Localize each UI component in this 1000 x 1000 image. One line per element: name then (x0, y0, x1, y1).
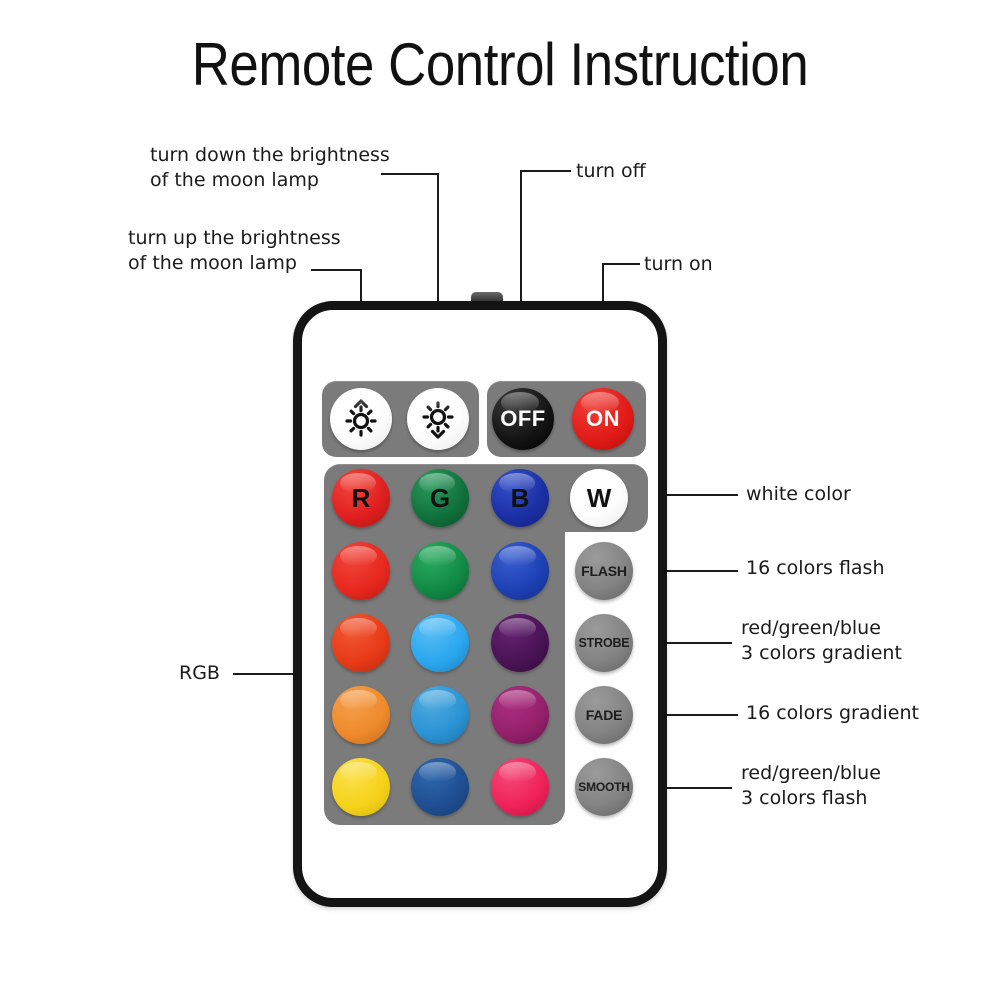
mode-button-flash[interactable]: FLASH (575, 542, 633, 600)
swatch-dark-purple[interactable] (491, 614, 549, 672)
color-button-r[interactable]: R (332, 469, 390, 527)
annotation-strobe: red/green/blue 3 colors gradient (741, 616, 902, 666)
color-button-g-label: G (430, 483, 450, 514)
mode-button-strobe[interactable]: STROBE (575, 614, 633, 672)
annotation-brightness-up: turn up the brightness of the moon lamp (128, 226, 428, 276)
annotation-flash: 16 colors flash (746, 556, 885, 581)
annotation-rgb: RGB (179, 661, 220, 686)
swatch-navy-blue[interactable] (411, 758, 469, 816)
mode-button-flash-label: FLASH (581, 563, 627, 579)
page-title: Remote Control Instruction (60, 34, 940, 96)
power-on-button[interactable]: ON (572, 388, 634, 450)
mode-button-strobe-label: STROBE (579, 636, 630, 650)
swatch-red[interactable] (332, 542, 390, 600)
leader-line-brightness-up-h (311, 269, 362, 271)
leader-line-turn-on-h (602, 263, 640, 265)
annotation-turn-on: turn on (644, 252, 713, 277)
swatch-blue[interactable] (491, 542, 549, 600)
annotation-brightness-down: turn down the brightness of the moon lam… (150, 143, 450, 193)
swatch-orange[interactable] (332, 686, 390, 744)
leader-line-turn-off-h (520, 170, 571, 172)
color-button-b[interactable]: B (491, 469, 549, 527)
color-button-w[interactable]: W (570, 469, 628, 527)
mode-button-fade[interactable]: FADE (575, 686, 633, 744)
color-button-w-label: W (587, 483, 612, 514)
swatch-pink[interactable] (491, 758, 549, 816)
mode-button-fade-label: FADE (586, 707, 623, 723)
mode-button-smooth-label: SMOOTH (578, 780, 629, 794)
power-on-label: ON (586, 406, 620, 432)
swatch-yellow[interactable] (332, 758, 390, 816)
annotation-fade: 16 colors gradient (746, 701, 919, 726)
color-button-r-label: R (352, 483, 371, 514)
leader-line-brightness-down-h (381, 173, 439, 175)
annotation-smooth: red/green/blue 3 colors flash (741, 761, 881, 811)
power-off-button[interactable]: OFF (492, 388, 554, 450)
mode-button-smooth[interactable]: SMOOTH (575, 758, 633, 816)
instruction-diagram: Remote Control Instruction turn down the… (0, 0, 1000, 1000)
brightness-up-button[interactable] (330, 388, 392, 450)
sun-up-icon (338, 396, 384, 442)
swatch-magenta[interactable] (491, 686, 549, 744)
annotation-turn-off: turn off (576, 159, 646, 184)
swatch-orange-red[interactable] (332, 614, 390, 672)
annotation-white-color: white color (746, 482, 851, 507)
sun-down-icon (415, 396, 461, 442)
color-button-b-label: B (511, 483, 530, 514)
swatch-medium-blue[interactable] (411, 686, 469, 744)
color-button-g[interactable]: G (411, 469, 469, 527)
swatch-green[interactable] (411, 542, 469, 600)
swatch-light-blue[interactable] (411, 614, 469, 672)
brightness-down-button[interactable] (407, 388, 469, 450)
power-off-label: OFF (500, 406, 546, 432)
